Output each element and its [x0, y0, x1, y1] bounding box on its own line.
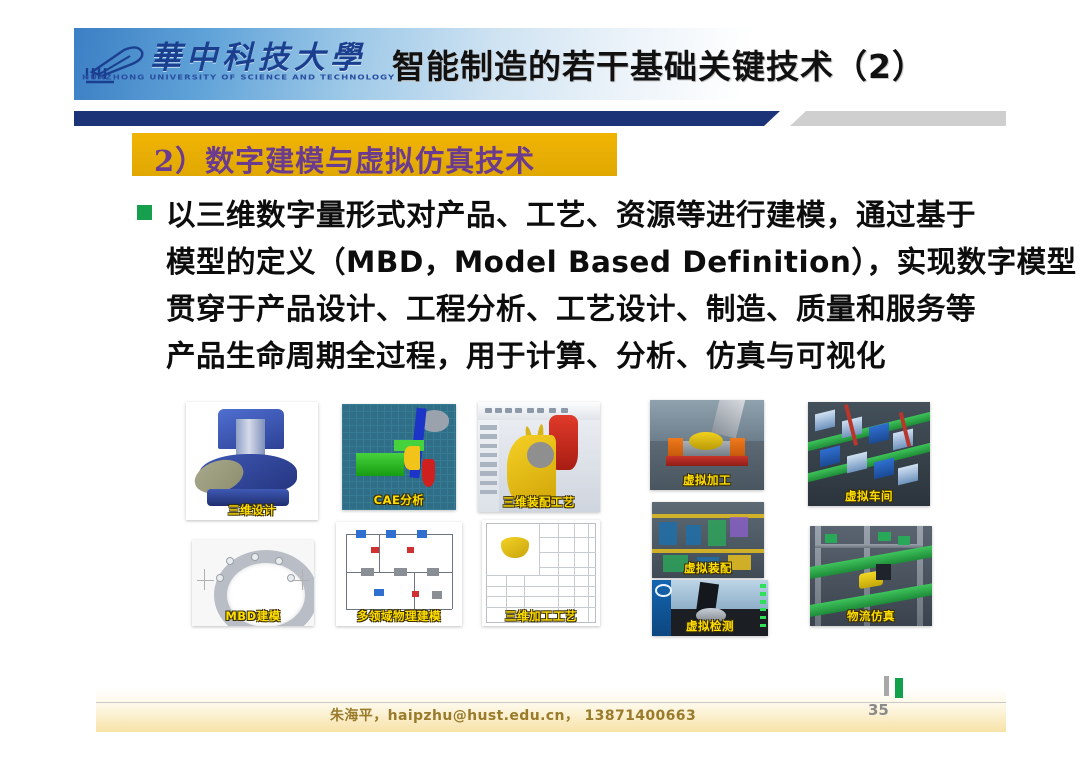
section-heading-text: 2）数字建模与虚拟仿真技术	[154, 138, 535, 180]
thumbnail-cae-analysis[interactable]: CAE分析	[342, 404, 456, 510]
gallery-item[interactable]: 多领域物理建模	[336, 522, 462, 626]
page-number: 35	[868, 701, 889, 719]
thumbnail-logistics-simulation[interactable]: 物流仿真	[810, 526, 932, 626]
gallery-item[interactable]: 三维加工工艺	[482, 520, 600, 626]
footer-contact: 朱海平，haipzhu@hust.edu.cn， 13871400663	[330, 705, 696, 725]
gallery-item[interactable]: CAE分析	[342, 404, 456, 510]
page-title: 智能制造的若干基础关键技术（2）	[392, 40, 926, 88]
page-mark-green-icon	[895, 678, 903, 698]
thumbnail-virtual-machining[interactable]: 虚拟加工	[650, 400, 764, 490]
thumbnail-virtual-inspection[interactable]: 虚拟检测	[652, 580, 768, 636]
thumbnail-mbd-modeling[interactable]: MBD建模	[192, 540, 314, 626]
thumbnail-3d-machining-process[interactable]: 三维加工工艺	[482, 520, 600, 626]
thumbnail-virtual-workshop[interactable]: 虚拟车间	[808, 402, 930, 506]
section-heading-band: 2）数字建模与虚拟仿真技术	[132, 133, 617, 176]
gallery-item[interactable]: 三维设计	[186, 402, 318, 520]
thumbnail-caption: CAE分析	[374, 492, 425, 508]
thumbnail-caption: 多领域物理建模	[357, 608, 441, 624]
thumbnail-caption: MBD建模	[225, 608, 280, 624]
thumbnail-3d-assembly-process[interactable]: 三维装配工艺	[478, 402, 600, 512]
body-paragraph: 以三维数字量形式对产品、工艺、资源等进行建模，通过基于 模型的定义（MBD，Mo…	[166, 192, 996, 380]
thumbnail-caption: 虚拟加工	[683, 472, 731, 488]
gallery-item[interactable]: 三维装配工艺	[478, 402, 600, 512]
header-rule-grey	[790, 111, 1006, 126]
thumbnail-3d-design[interactable]: 三维设计	[186, 402, 318, 520]
body-line: 以三维数字量形式对产品、工艺、资源等进行建模，通过基于	[166, 192, 996, 239]
image-gallery: 三维设计 CAE分析	[186, 398, 996, 638]
body-line: 贯穿于产品设计、工程分析、工艺设计、制造、质量和服务等	[166, 286, 996, 333]
thumbnail-caption: 三维装配工艺	[503, 494, 575, 510]
gallery-item[interactable]: MBD建模	[192, 540, 314, 626]
gallery-item[interactable]: 虚拟检测	[652, 580, 768, 636]
header-rule-navy	[74, 111, 780, 126]
slide-canvas: 華中科技大學 HUAZHONG UNIVERSITY OF SCIENCE AN…	[0, 0, 1080, 764]
thumbnail-caption: 三维设计	[228, 502, 276, 518]
thumbnail-caption: 物流仿真	[847, 608, 895, 624]
gallery-item[interactable]: 物流仿真	[810, 526, 932, 626]
university-logo: 華中科技大學 HUAZHONG UNIVERSITY OF SCIENCE AN…	[78, 30, 348, 96]
logo-chinese-name: 華中科技大學	[150, 32, 366, 77]
gallery-item[interactable]: 虚拟装配	[652, 502, 764, 578]
gallery-item[interactable]: 虚拟加工	[650, 400, 764, 490]
thumbnail-caption: 三维加工工艺	[505, 608, 577, 624]
thumbnail-virtual-assembly[interactable]: 虚拟装配	[652, 502, 764, 578]
page-mark-grey-icon	[884, 676, 889, 696]
logo-english-name: HUAZHONG UNIVERSITY OF SCIENCE AND TECHN…	[82, 74, 395, 82]
thumbnail-caption: 虚拟车间	[845, 488, 893, 504]
thumbnail-caption: 虚拟装配	[684, 560, 732, 576]
body-line: 产品生命周期全过程，用于计算、分析、仿真与可视化	[166, 333, 996, 380]
body-line: 模型的定义（MBD，Model Based Definition），实现数字模型	[166, 239, 996, 286]
gallery-item[interactable]: 虚拟车间	[808, 402, 930, 506]
bullet-square-icon	[137, 205, 152, 220]
thumbnail-multidomain-physical-modeling[interactable]: 多领域物理建模	[336, 522, 462, 626]
thumbnail-caption: 虚拟检测	[686, 618, 734, 634]
